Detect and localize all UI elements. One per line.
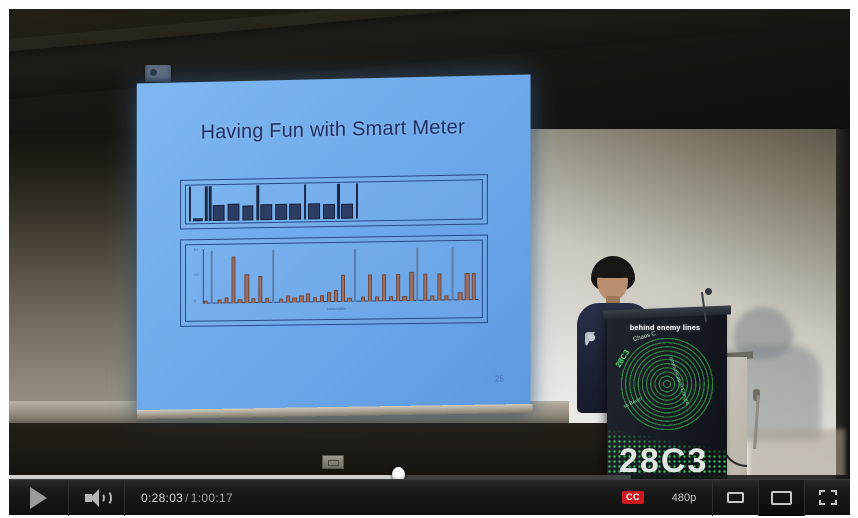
glyph-ascender-bar [209, 186, 211, 221]
load-bar [368, 275, 372, 302]
wall-plate [322, 455, 344, 469]
load-spike-bar [451, 247, 453, 301]
closed-captions-button[interactable]: CC [610, 480, 656, 516]
y-tick-label: 0 [194, 299, 196, 303]
glyph-bar-chart [189, 181, 479, 221]
glyph-ascender-bar [337, 184, 339, 219]
glyph-ascender-bar [189, 187, 191, 222]
load-bar [265, 298, 269, 303]
load-bar [279, 299, 283, 303]
load-spike-bar [354, 249, 356, 302]
glyph-body-bar [227, 204, 239, 221]
load-bar [444, 295, 448, 300]
chart-panel-load-profile: 8 0 4 0 0 consumption [180, 234, 488, 326]
cc-icon: CC [622, 491, 644, 504]
podium: behind enemy lines 28C3 Chaos C ommunica… [607, 314, 727, 479]
size-button[interactable] [712, 480, 758, 516]
small-screen-icon [727, 492, 744, 503]
podium-banner: behind enemy lines [615, 320, 715, 334]
time-display: 0:28:03/1:00:17 [125, 491, 233, 505]
load-bar [472, 272, 476, 300]
y-tick-label: 4 0 [194, 273, 198, 277]
load-bar [375, 296, 379, 302]
quality-label: 480p [672, 492, 696, 504]
load-bar [334, 290, 338, 302]
ccc-radar-logo-icon [619, 336, 715, 432]
theater-mode-icon [771, 491, 792, 505]
load-bar [437, 273, 441, 301]
load-bar [327, 292, 331, 302]
glyph-ascender-bar [304, 184, 306, 219]
tshirt-logo [585, 332, 601, 346]
load-bar [224, 297, 228, 303]
fullscreen-corner-tr [831, 490, 837, 495]
load-bar [361, 297, 365, 302]
glyph-ascender-bar [205, 186, 207, 221]
glyph-body-bar [260, 204, 272, 220]
load-bar [320, 296, 324, 303]
load-bar [389, 296, 393, 301]
load-bar [306, 293, 310, 302]
fullscreen-corner-tl [819, 490, 825, 495]
glyph-body-bar [289, 203, 301, 219]
glyph-body-bar [275, 204, 287, 220]
load-bar [403, 296, 407, 301]
load-spike-bar [211, 250, 213, 303]
fullscreen-corner-br [831, 500, 837, 505]
load-bar [423, 273, 427, 301]
load-bar [409, 272, 413, 301]
fullscreen-icon [819, 490, 837, 505]
load-bar [299, 295, 303, 302]
load-bar [292, 297, 296, 303]
fullscreen-button[interactable] [804, 480, 850, 516]
y-axis [203, 249, 204, 304]
load-bar [465, 273, 469, 301]
load-bar [382, 274, 386, 302]
player-control-bar: 0:28:03/1:00:17 CC 480p [9, 479, 850, 515]
glyph-body-bar [213, 205, 225, 221]
total-time: 1:00:17 [191, 491, 233, 505]
glyph-body-bar [323, 204, 335, 220]
load-bar [245, 275, 249, 304]
volume-icon [85, 489, 109, 507]
load-spike-bar [272, 250, 274, 303]
theater-mode-button[interactable] [758, 480, 804, 516]
chart-panel-text-bars [180, 174, 488, 229]
load-profile-chart: 8 0 4 0 0 consumption [194, 243, 481, 314]
page-frame-top [0, 0, 858, 9]
load-bar [396, 274, 400, 302]
glyph-body-bar [193, 218, 203, 221]
time-separator: / [183, 491, 191, 505]
glyph-ascender-bar [356, 184, 358, 219]
slide-title: Having Fun with Smart Meter [137, 115, 531, 146]
slide-page-number: 25 [495, 374, 504, 383]
load-bar [204, 300, 208, 303]
load-bar [286, 296, 290, 303]
load-bar [231, 256, 235, 303]
wall-right-edge [836, 69, 850, 479]
load-bar [217, 300, 221, 304]
radar-sweep-icon [667, 384, 715, 432]
load-bar [251, 298, 255, 303]
glyph-body-bar [242, 205, 254, 221]
quality-button[interactable]: 480p [656, 480, 712, 516]
load-bar [313, 297, 317, 302]
volume-button[interactable] [69, 480, 125, 516]
load-bar [340, 274, 344, 302]
current-time: 0:28:03 [141, 491, 183, 505]
glyph-body-bar [308, 203, 320, 219]
page-frame-right [850, 0, 858, 518]
glyph-body-bar [341, 203, 353, 219]
podium-banner-text: behind enemy lines [630, 323, 700, 332]
fullscreen-corner-bl [819, 500, 825, 505]
play-icon [30, 487, 47, 509]
load-bar [238, 299, 242, 303]
load-bar [430, 296, 434, 301]
progress-bar[interactable] [9, 470, 850, 479]
volume-icon-wave-2 [101, 490, 112, 506]
projection-screen: Having Fun with Smart Meter 8 0 4 0 0 co… [137, 74, 531, 412]
y-tick-label: 8 0 [194, 248, 198, 252]
podium-microphone-icon [705, 288, 712, 295]
load-bar [347, 297, 351, 301]
load-bar [258, 276, 262, 303]
projector-lens-icon [150, 69, 157, 76]
glyph-ascender-bar [256, 185, 258, 220]
video-player: Having Fun with Smart Meter 8 0 4 0 0 co… [0, 0, 858, 518]
video-stage[interactable]: Having Fun with Smart Meter 8 0 4 0 0 co… [9, 9, 850, 479]
load-spike-bar [416, 248, 418, 301]
page-frame-left [0, 0, 9, 518]
play-button[interactable] [9, 480, 69, 516]
wall-plate-inner [328, 460, 339, 466]
load-bar [458, 293, 462, 301]
